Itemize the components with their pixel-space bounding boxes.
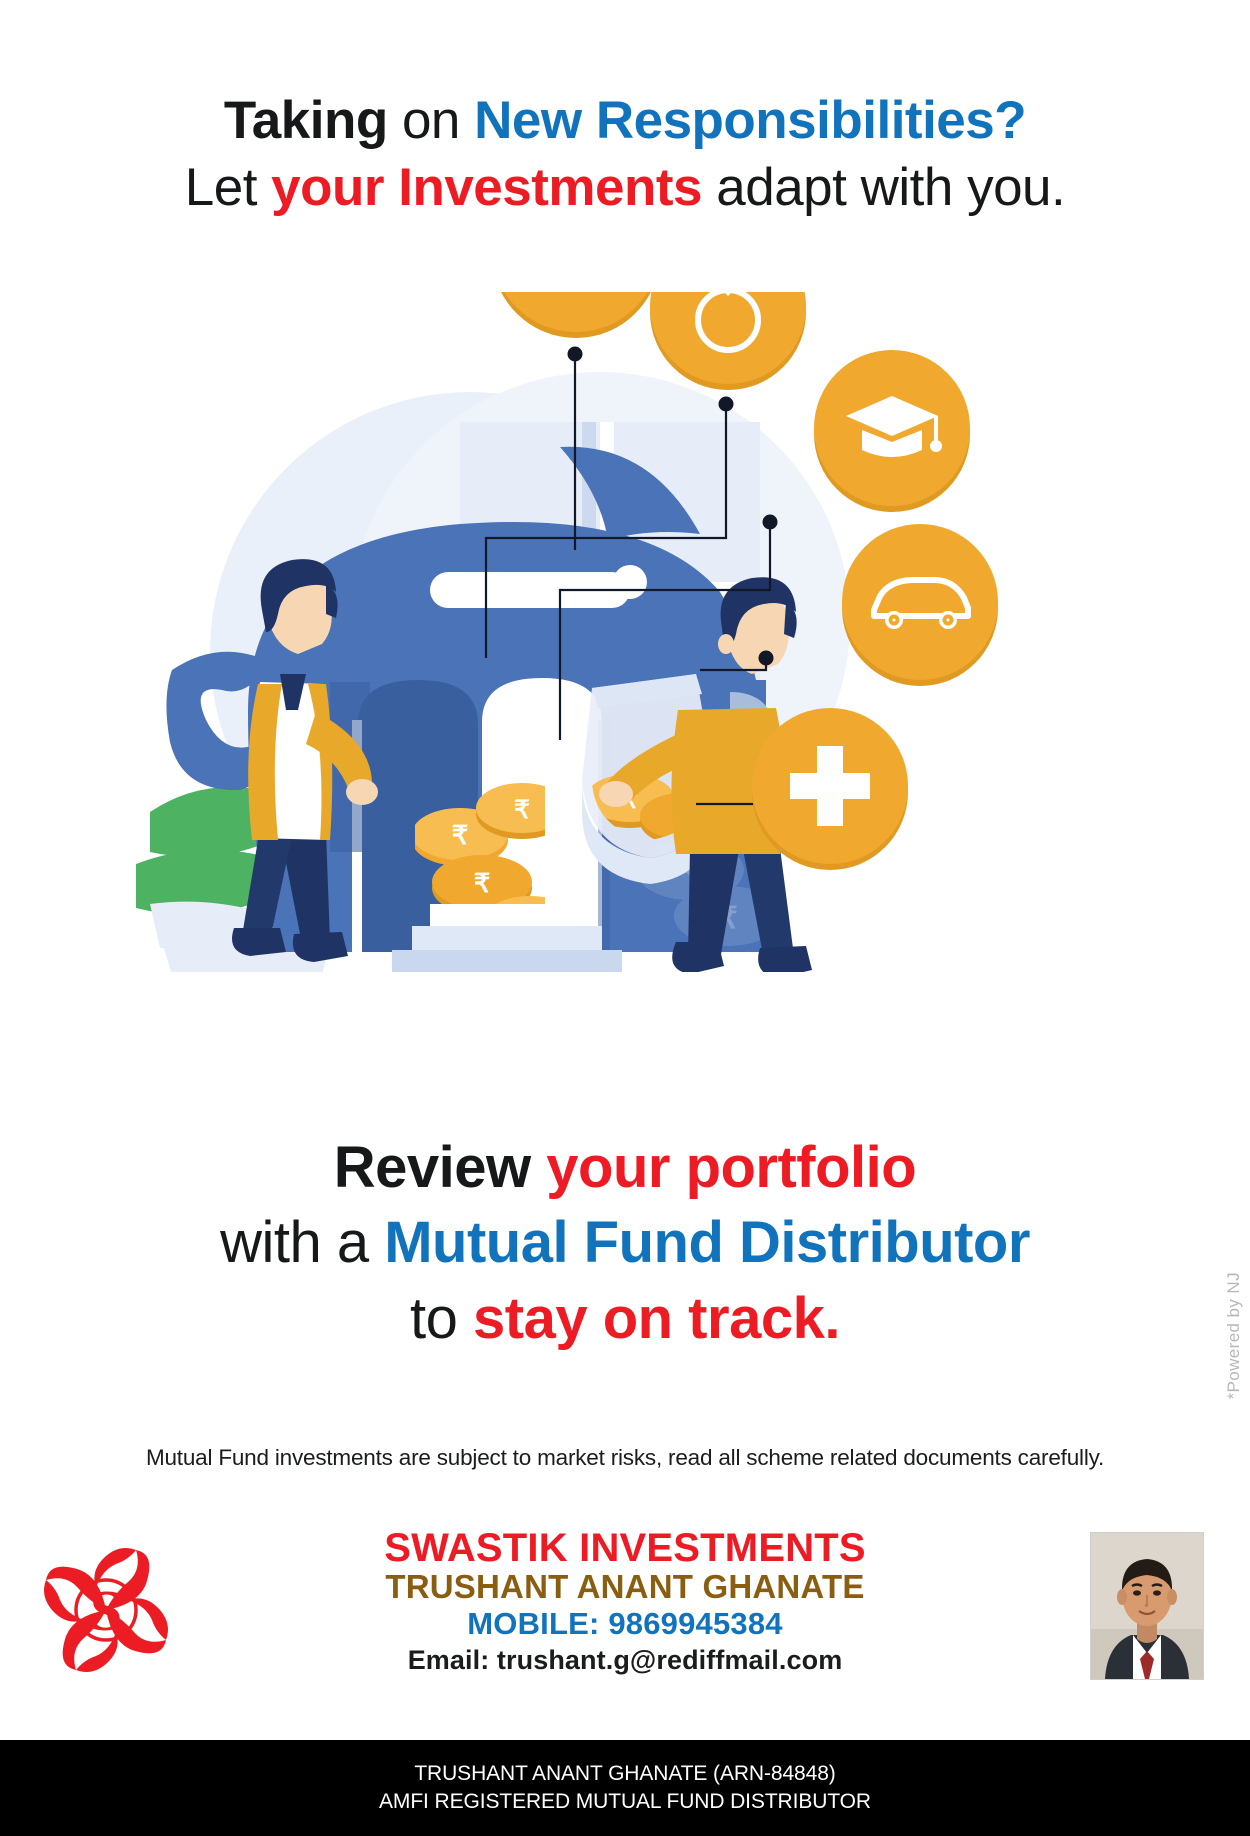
headline-word-new-responsibilities: New Responsibilities?	[474, 91, 1026, 150]
message-word-review: Review	[334, 1135, 547, 1200]
message-line-2: with a Mutual Fund Distributor	[0, 1205, 1250, 1280]
advisor-name: TRUSHANT ANANT GHANATE	[0, 1569, 1250, 1605]
headline: Taking on New Responsibilities? Let your…	[0, 88, 1250, 222]
icon-coin-ring	[650, 292, 806, 390]
headline-line-2: Let your Investments adapt with you.	[0, 155, 1250, 222]
advisor-portrait	[1090, 1532, 1204, 1680]
message-word-your-portfolio: your portfolio	[546, 1135, 916, 1200]
message-line-3: to stay on track.	[0, 1281, 1250, 1356]
svg-text:₹: ₹	[514, 796, 530, 824]
footer-bar: TRUSHANT ANANT GHANATE (ARN-84848) AMFI …	[0, 1740, 1250, 1836]
mobile-number[interactable]: MOBILE: 9869945384	[0, 1605, 1250, 1643]
risk-disclaimer: Mutual Fund investments are subject to m…	[0, 1445, 1250, 1471]
footer-amfi-line: AMFI REGISTERED MUTUAL FUND DISTRIBUTOR	[379, 1788, 871, 1816]
poster-canvas: Taking on New Responsibilities? Let your…	[0, 0, 1250, 1836]
message-word-with-a: with a	[220, 1210, 384, 1275]
headline-line-1: Taking on New Responsibilities?	[0, 88, 1250, 155]
footer-arn-line: TRUSHANT ANANT GHANATE (ARN-84848)	[414, 1760, 835, 1788]
message-word-mutual-fund-distributor: Mutual Fund Distributor	[384, 1210, 1030, 1275]
svg-text:₹: ₹	[452, 820, 469, 850]
headline-word-taking: Taking	[224, 91, 388, 150]
icon-coin-house	[492, 292, 660, 338]
headline-word-let: Let	[185, 158, 271, 217]
email-address[interactable]: Email: trushant.g@rediffmail.com	[0, 1643, 1250, 1677]
powered-by-label: *Powered by NJ	[1224, 1272, 1244, 1400]
main-message: Review your portfolio with a Mutual Fund…	[0, 1130, 1250, 1356]
headline-word-adapt-with-you: adapt with you.	[702, 158, 1065, 217]
svg-text:₹: ₹	[474, 868, 491, 898]
piggy-bank-goals-illustration: ₹ ₹ ₹ ₹ ₹ ₹	[130, 292, 1120, 972]
icon-coin-graduation-cap	[814, 350, 970, 512]
headline-word-your-investments: your Investments	[271, 158, 702, 217]
contact-block: SWASTIK INVESTMENTS TRUSHANT ANANT GHANA…	[0, 1528, 1250, 1677]
headline-word-on: on	[388, 91, 474, 150]
icon-coin-medical-cross	[752, 708, 908, 870]
message-word-to: to	[410, 1286, 473, 1351]
firm-name: SWASTIK INVESTMENTS	[0, 1528, 1250, 1569]
icon-coin-car	[842, 524, 998, 686]
message-word-stay-on-track: stay on track.	[473, 1286, 840, 1351]
message-line-1: Review your portfolio	[0, 1130, 1250, 1205]
